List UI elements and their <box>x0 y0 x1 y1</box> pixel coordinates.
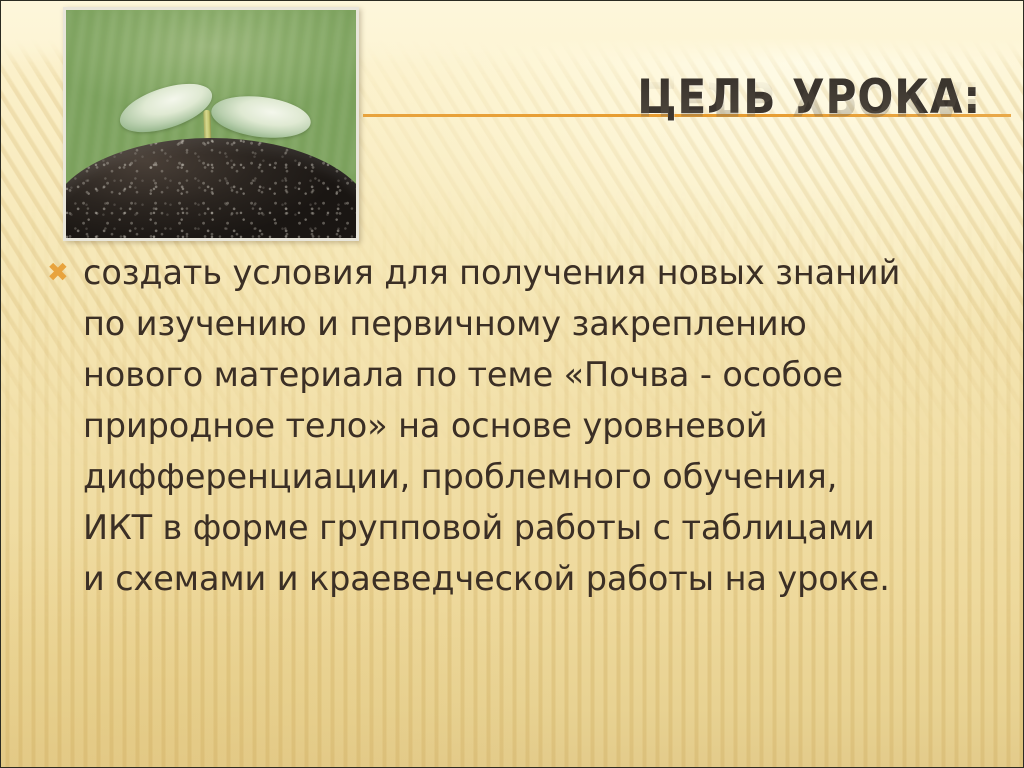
body-line: нового материала по теме «Почва - особое <box>83 349 1001 400</box>
bullet-cross-icon: ✖ <box>45 247 83 299</box>
body-line: дифференциации, проблемного обучения, <box>83 451 1001 502</box>
list-item: ✖ создать условия для получения новых зн… <box>45 247 1001 604</box>
body-line: по изучению и первичному закреплению <box>83 298 1001 349</box>
body-line: создать условия для получения новых знан… <box>83 247 1001 298</box>
page-title: ЦЕЛЬ УРОКА: <box>637 74 981 121</box>
slide-title-area: ЦЕЛЬ УРОКА: ЦЕЛЬ УРОКА: <box>363 59 1011 121</box>
body-line: и схемами и краеведческой работы на урок… <box>83 553 1001 604</box>
seedling-photo <box>63 7 359 241</box>
body-line: ИКТ в форме групповой работы с таблицами <box>83 502 1001 553</box>
photo-background-grass <box>66 10 356 238</box>
bullet-text: создать условия для получения новых знан… <box>83 247 1001 604</box>
slide-body: ✖ создать условия для получения новых зн… <box>45 247 1001 604</box>
body-line: природное тело» на основе уровневой <box>83 400 1001 451</box>
presentation-slide: ЦЕЛЬ УРОКА: ЦЕЛЬ УРОКА: ✖ создать услови… <box>0 0 1024 768</box>
